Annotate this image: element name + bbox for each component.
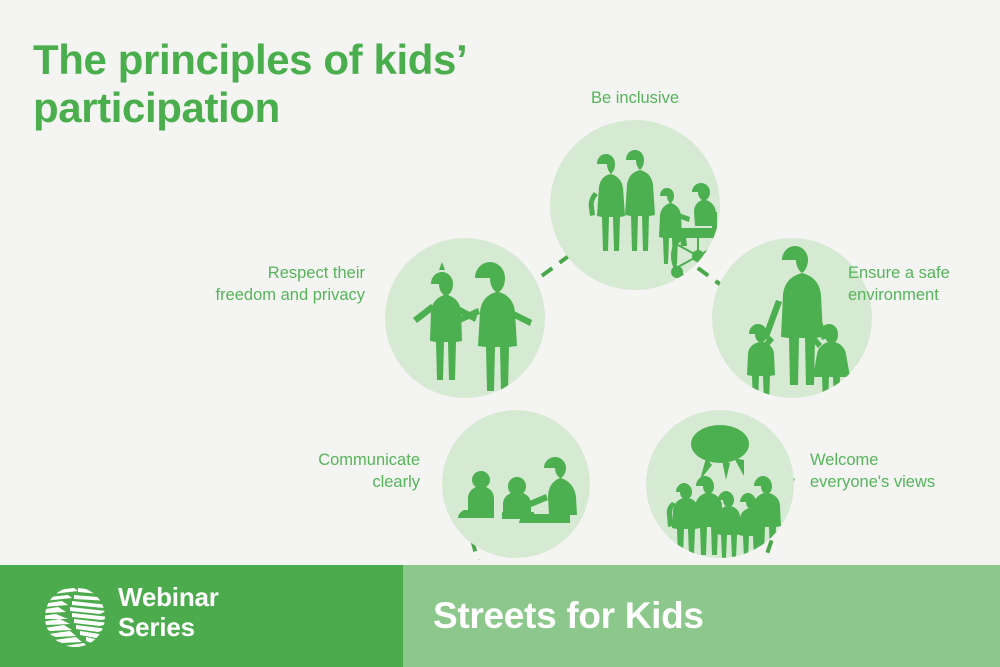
two-children-open-arms-icon [385, 238, 545, 398]
infographic-canvas: The principles of kids’ participation [0, 0, 1000, 667]
group-with-wheelchair-icon [550, 120, 720, 290]
bubble-welcome-views-circle [646, 410, 794, 558]
seated-group-talking-icon [442, 410, 590, 558]
label-ensure-safe-environment: Ensure a safe environment [848, 263, 1000, 307]
label-communicate-clearly: Communicate clearly [180, 450, 420, 494]
webinar-series-text: Webinar Series [118, 582, 219, 642]
bubble-ensure-safe-environment [712, 238, 872, 398]
label-welcome-everyones-views: Welcome everyone's views [810, 450, 1000, 494]
bubble-respect-freedom-privacy [385, 238, 545, 398]
label-respect-freedom-privacy: Respect their freedom and privacy [125, 263, 365, 307]
bubble-be-inclusive [550, 120, 720, 290]
bubble-communicate-clearly [442, 410, 590, 558]
principles-pentagon-diagram: Be inclusive [250, 80, 1000, 560]
label-be-inclusive: Be inclusive [515, 88, 755, 110]
adult-holding-two-children-icon [712, 238, 872, 398]
striped-globe-logo [44, 586, 106, 648]
crowd-with-speech-bubble-icon [646, 410, 794, 558]
program-title: Streets for Kids [433, 595, 704, 637]
